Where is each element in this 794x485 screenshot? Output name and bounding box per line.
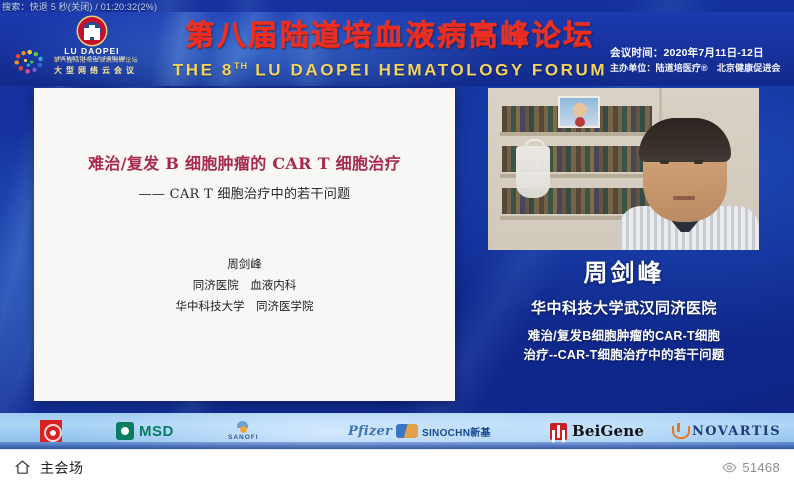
hanging-bag bbox=[516, 146, 550, 198]
event-title-en-pre: THE 8 bbox=[173, 61, 234, 80]
view-count-group: 51468 bbox=[722, 460, 780, 475]
sponsor-label: Pfizer bbox=[348, 424, 392, 439]
slide-author-block: 周剑峰 同济医院 血液内科 华中科技大学 同济医学院 bbox=[34, 254, 455, 317]
sponsor-logo-msd[interactable]: MSD bbox=[116, 422, 174, 440]
event-title-cn: 第八届陆道培血液病高峰论坛 bbox=[155, 16, 625, 54]
sponsor-logo-red-mark[interactable] bbox=[40, 420, 62, 442]
venue-label: 主会场 bbox=[40, 458, 84, 478]
slide-title: 难治/复发 B 细胞肿瘤的 CAR T 细胞治疗 bbox=[34, 150, 455, 174]
banner-title-group: 第八届陆道培血液病高峰论坛 THE 8TH LU DAOPEI HEMATOLO… bbox=[155, 16, 625, 83]
colorful-cell-cluster-icon bbox=[12, 49, 46, 75]
sponsor-label: MSD bbox=[139, 423, 174, 440]
event-date: 会议时间：2020年7月11日-12日 bbox=[610, 46, 786, 61]
event-title-en-ordinal: TH bbox=[234, 61, 248, 71]
view-count: 51468 bbox=[742, 460, 780, 475]
speaker-hair bbox=[639, 118, 731, 162]
medical-cross-shield-icon bbox=[78, 17, 106, 45]
event-organizers: 主办单位：陆道培医疗® 北京健康促进会 bbox=[610, 61, 786, 76]
speaker-topic-line1: 难治/复发B细胞肿瘤的CAR-T细胞 bbox=[462, 327, 786, 346]
video-stage[interactable]: 搜索：快退 5 秒(关闭) / 01:20:32(2%) LU DAOPEI H… bbox=[0, 0, 794, 449]
seek-status-overlay: 搜索：快退 5 秒(关闭) / 01:20:32(2%) bbox=[2, 1, 157, 13]
event-banner: LU DAOPEI HEMATOLOGY FORUM 第八届陆道培血液病高峰论坛… bbox=[0, 12, 794, 86]
sponsor-label: SANOFI bbox=[228, 434, 259, 441]
sponsor-logo-pfizer[interactable]: Pfizer bbox=[348, 424, 392, 439]
sinochn-icon bbox=[396, 424, 418, 438]
logo-cn-line1: 第八届陆道培血液病高峰论坛 bbox=[46, 55, 146, 64]
eye-icon bbox=[722, 460, 737, 475]
sanofi-icon bbox=[235, 421, 251, 433]
logo-cn-group: 第八届陆道培血液病高峰论坛 大型网络云会议 bbox=[46, 55, 146, 76]
sponsor-strip: MSD SANOFI Pfizer SINOCHN新基 BeiGene NOVA… bbox=[0, 413, 794, 449]
event-meta: 会议时间：2020年7月11日-12日 主办单位：陆道培医疗® 北京健康促进会 bbox=[610, 46, 786, 76]
sponsor-logo-novartis[interactable]: NOVARTIS bbox=[672, 423, 781, 439]
shared-slide[interactable]: 难治/复发 B 细胞肿瘤的 CAR T 细胞治疗 —— CAR T 细胞治疗中的… bbox=[34, 88, 455, 401]
slide-subtitle: —— CAR T 细胞治疗中的若干问题 bbox=[34, 183, 455, 202]
speaker-topic: 难治/复发B细胞肿瘤的CAR-T细胞 治疗--CAR-T细胞治疗中的若干问题 bbox=[462, 327, 786, 365]
event-title-en-post: LU DAOPEI HEMATOLOGY FORUM bbox=[248, 61, 607, 80]
speaker-affiliation: 华中科技大学武汉同济医院 bbox=[462, 298, 786, 320]
speaker-name: 周剑峰 bbox=[462, 258, 786, 290]
sponsor-label: NOVARTIS bbox=[692, 424, 781, 439]
sponsor-label: BeiGene bbox=[572, 422, 644, 440]
beigene-icon bbox=[550, 423, 567, 440]
slide-author-name: 周剑峰 bbox=[34, 254, 455, 275]
speaker-video-feed[interactable] bbox=[488, 88, 759, 250]
speaker-mouth bbox=[673, 196, 695, 200]
speaker-eye-right bbox=[694, 160, 703, 164]
speaker-figure bbox=[615, 100, 759, 250]
red-target-icon bbox=[40, 420, 62, 442]
sponsor-logo-sanofi[interactable]: SANOFI bbox=[228, 421, 259, 441]
sponsor-logo-beigene[interactable]: BeiGene bbox=[550, 422, 644, 440]
bottom-bar: 主会场 51468 bbox=[0, 449, 794, 485]
logo-cn-line2: 大型网络云会议 bbox=[46, 65, 146, 76]
speaker-topic-line2: 治疗--CAR-T细胞治疗中的若干问题 bbox=[462, 346, 786, 365]
slide-author-department: 同济医院 血液内科 bbox=[34, 275, 455, 296]
msd-icon bbox=[116, 422, 134, 440]
speaker-caption: 周剑峰 华中科技大学武汉同济医院 难治/复发B细胞肿瘤的CAR-T细胞 治疗--… bbox=[462, 258, 786, 365]
venue-tab[interactable]: 主会场 bbox=[14, 458, 84, 478]
forum-logo: LU DAOPEI HEMATOLOGY FORUM 第八届陆道培血液病高峰论坛… bbox=[10, 15, 150, 85]
slide-author-institution: 华中科技大学 同济医学院 bbox=[34, 296, 455, 317]
home-icon bbox=[14, 459, 31, 476]
event-title-en: THE 8TH LU DAOPEI HEMATOLOGY FORUM bbox=[155, 54, 625, 83]
speaker-eye-left bbox=[660, 160, 669, 164]
novartis-icon bbox=[672, 423, 686, 439]
framed-portrait bbox=[558, 96, 600, 128]
sponsor-logo-sinochn[interactable]: SINOCHN新基 bbox=[396, 424, 491, 439]
sponsor-label: SINOCHN新基 bbox=[422, 424, 491, 439]
live-webinar-player: 搜索：快退 5 秒(关闭) / 01:20:32(2%) LU DAOPEI H… bbox=[0, 0, 794, 485]
